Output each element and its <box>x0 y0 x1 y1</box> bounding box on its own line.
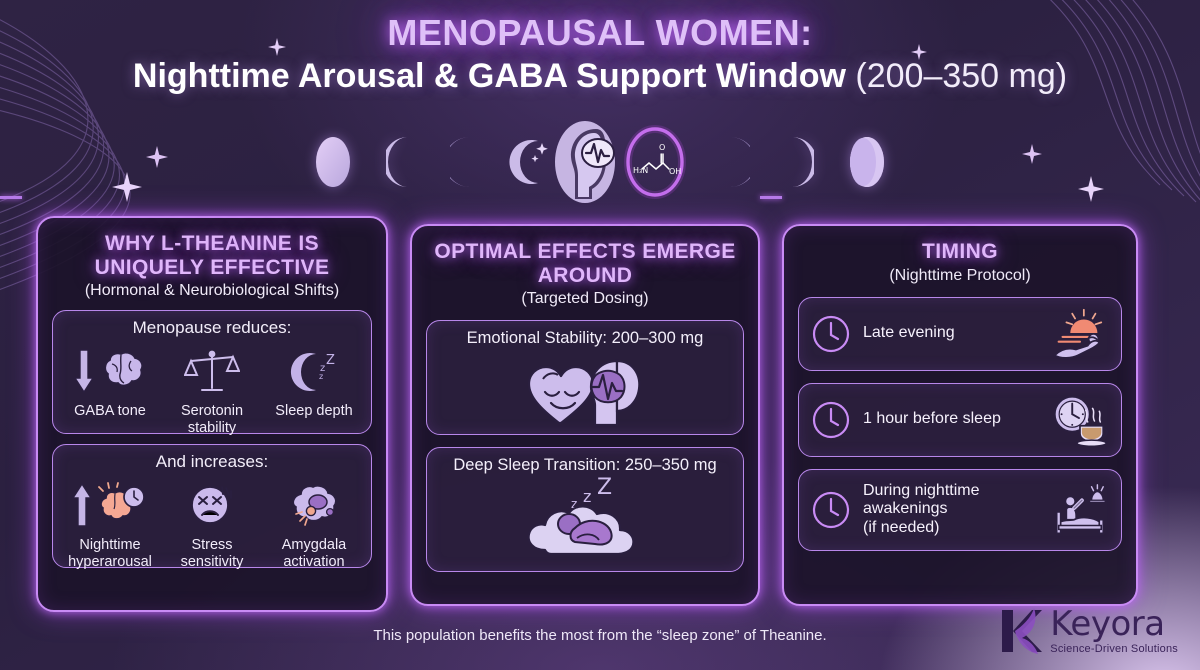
card-and-increases: And increases: <box>52 444 372 568</box>
infographic-stage: MENOPAUSAL WOMEN: Nighttime Arousal & GA… <box>0 0 1200 670</box>
item-sleep-depth: Z z z Sleep depth <box>265 340 363 419</box>
increases-items: Nighttime hyperarousal <box>59 474 365 569</box>
page-title-line1: MENOPAUSAL WOMEN: <box>0 14 1200 52</box>
timing-row-one-hour-before-sleep: 1 hour before sleep <box>798 383 1122 457</box>
head-brain-waveform-icon <box>548 119 622 205</box>
panel-title: TIMING <box>798 240 1122 264</box>
item-serotonin-stability: Serotonin stability <box>163 340 261 435</box>
svg-text:Z: Z <box>326 353 335 368</box>
timing-label: Late evening <box>863 324 1037 343</box>
keyora-k-logo-icon <box>998 606 1042 656</box>
panel-timing: TIMING (Nighttime Protocol) Late evening <box>782 224 1138 606</box>
brand-tagline: Science-Driven Solutions <box>1050 644 1178 655</box>
panel-optimal-effects: OPTIMAL EFFECTS EMERGE AROUND (Targeted … <box>410 224 760 606</box>
up-arrow-icon <box>72 482 92 528</box>
balance-scale-icon <box>184 348 240 394</box>
panel-connector-left <box>0 196 22 199</box>
item-label: GABA tone <box>61 403 159 419</box>
first-quarter-icon <box>724 136 750 188</box>
zzz-medium: z <box>583 487 591 506</box>
timing-label: 1 hour before sleep <box>863 410 1037 429</box>
wall-clock-tea-cup-icon <box>1049 392 1109 448</box>
heart-and-head-brain-icon <box>521 351 649 431</box>
molecule-carbonyl-label: O <box>659 143 665 152</box>
item-label: Amygdala activation <box>265 537 363 569</box>
card-title: Emotional Stability: 200–300 mg <box>437 329 733 348</box>
card-heading: Menopause reduces: <box>59 318 365 338</box>
item-nighttime-hyperarousal: Nighttime hyperarousal <box>61 474 159 569</box>
brand-logo: Keyora Science-Driven Solutions <box>998 606 1178 656</box>
molecule-amine-label: H₃N <box>633 166 648 175</box>
panel-title: OPTIMAL EFFECTS EMERGE AROUND <box>426 240 744 287</box>
timing-row-nighttime-awakenings: During nighttime awakenings (if needed) <box>798 469 1122 551</box>
panel-subtitle: (Targeted Dosing) <box>426 290 744 308</box>
item-stress-sensitivity: Stress sensitivity <box>163 474 261 569</box>
card-menopause-reduces: Menopause reduces: <box>52 310 372 434</box>
panel-subtitle: (Hormonal & Neurobiological Shifts) <box>52 282 372 300</box>
brand-text: Keyora Science-Driven Solutions <box>1050 607 1178 655</box>
item-gaba-tone: GABA tone <box>61 340 159 419</box>
card-deep-sleep-transition: Deep Sleep Transition: 250–350 mg Z z z <box>426 447 744 572</box>
brain-icon <box>98 350 146 392</box>
panel-subtitle: (Nighttime Protocol) <box>798 267 1122 285</box>
clock-icon <box>811 314 851 354</box>
item-label: Sleep depth <box>265 403 363 419</box>
item-label: Nighttime hyperarousal <box>61 537 159 569</box>
person-sitting-in-bed-alarm-icon <box>1049 482 1109 538</box>
reduces-items: GABA tone <box>59 340 365 435</box>
last-quarter-icon <box>450 136 476 188</box>
amygdala-brain-icon <box>287 482 341 528</box>
waxing-gibbous-icon <box>782 136 814 188</box>
card-emotional-stability: Emotional Stability: 200–300 mg <box>426 320 744 435</box>
moon-phase-icon-strip: H₃N OH O <box>0 126 1200 198</box>
panels-row: WHY L-THEANINE IS UNIQUELY EFFECTIVE (Ho… <box>36 216 1170 612</box>
sunset-relaxing-person-icon <box>1049 306 1109 362</box>
brain-alarm-clock-icon <box>96 482 148 528</box>
svg-text:z: z <box>319 372 323 381</box>
full-moon-icon <box>846 136 888 188</box>
item-label: Serotonin stability <box>163 403 261 435</box>
page-title-line2: Nighttime Arousal & GABA Support Window … <box>0 58 1200 95</box>
down-arrow-icon <box>74 348 94 394</box>
center-icon-group: H₃N OH O <box>508 119 692 205</box>
header: MENOPAUSAL WOMEN: Nighttime Arousal & GA… <box>0 14 1200 95</box>
waning-gibbous-icon <box>386 136 418 188</box>
brand-name: Keyora <box>1050 607 1178 641</box>
sleeping-person-cloud-zzz-icon: Z z z <box>515 472 655 564</box>
card-heading: And increases: <box>59 452 365 472</box>
clock-icon <box>811 400 851 440</box>
stressed-face-icon <box>186 482 238 528</box>
panel-why-l-theanine: WHY L-THEANINE IS UNIQUELY EFFECTIVE (Ho… <box>36 216 388 612</box>
gaba-molecule-icon: H₃N OH O <box>618 123 692 201</box>
page-title-dose-range: (200–350 mg) <box>855 57 1067 95</box>
page-title-line2-bold: Nighttime Arousal & GABA Support Window <box>133 57 846 95</box>
crescent-moon-zzz-icon: Z z z <box>286 348 342 394</box>
clock-icon <box>811 490 851 530</box>
panel-title: WHY L-THEANINE IS UNIQUELY EFFECTIVE <box>52 232 372 279</box>
zzz-large: Z <box>597 475 612 500</box>
molecule-hydroxyl-label: OH <box>669 167 681 176</box>
item-label: Stress sensitivity <box>163 537 261 569</box>
item-amygdala-activation: Amygdala activation <box>265 474 363 569</box>
panel-connector-right <box>760 196 782 199</box>
timing-label: During nighttime awakenings (if needed) <box>863 482 1037 539</box>
timing-row-late-evening: Late evening <box>798 297 1122 371</box>
full-moon-icon <box>312 136 354 188</box>
